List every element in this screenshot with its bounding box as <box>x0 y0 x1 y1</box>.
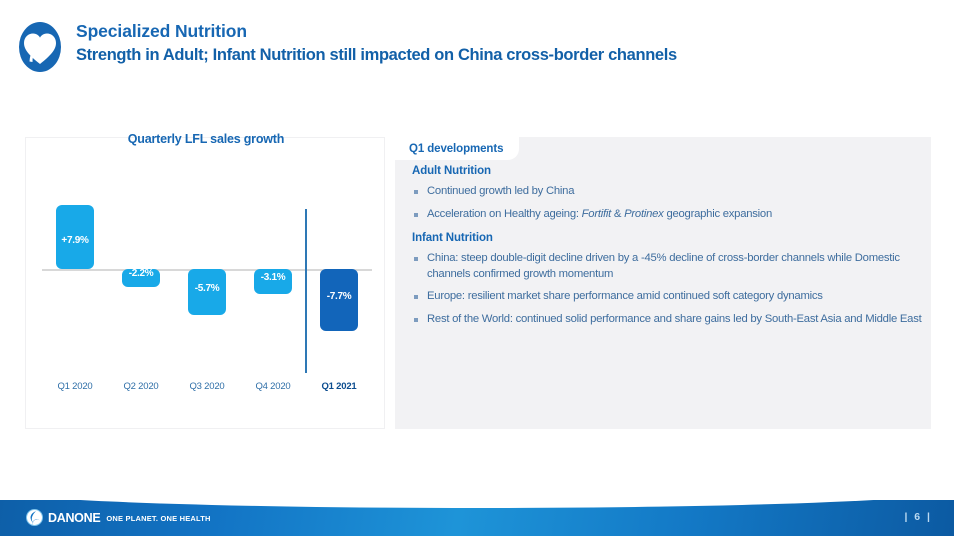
chart-bar: +7.9% <box>56 205 94 269</box>
developments-bullet: Acceleration on Healthy ageing: Fortifit… <box>412 207 922 223</box>
bullet-text: Acceleration on Healthy ageing: <box>427 208 582 220</box>
page-number: | 6 | <box>904 511 932 523</box>
chart-card: Quarterly LFL sales growth +7.9%Q1 2020-… <box>25 137 385 429</box>
bullet-square-icon <box>414 257 418 261</box>
chart-bar-value-label: -2.2% <box>129 268 154 279</box>
chart-bar-value-label: +7.9% <box>61 235 88 246</box>
bullet-brand-name: Protinex <box>624 208 663 220</box>
bullet-square-icon <box>414 295 418 299</box>
bar-chart-plot: +7.9%Q1 2020-2.2%Q2 2020-5.7%Q3 2020-3.1… <box>26 138 386 430</box>
chart-bar: -7.7% <box>320 269 358 331</box>
chart-bar-value-label: -3.1% <box>261 272 286 283</box>
page-subtitle: Strength in Adult; Infant Nutrition stil… <box>76 44 936 67</box>
bullet-text: & <box>611 208 624 220</box>
header-text-block: Specialized Nutrition Strength in Adult;… <box>76 20 936 67</box>
bullet-brand-name: Fortifit <box>582 208 611 220</box>
developments-section-title: Adult Nutrition <box>412 165 922 177</box>
chart-bar: -2.2% <box>122 269 160 287</box>
developments-bullet: China: steep double-digit decline driven… <box>412 251 922 282</box>
developments-tab: Q1 developments <box>395 137 519 160</box>
footer-wave-decoration <box>0 500 954 508</box>
danone-logo: DANONE ONE PLANET. ONE HEALTH <box>26 509 211 526</box>
developments-section: Adult NutritionContinued growth led by C… <box>412 165 922 222</box>
developments-bullet: Europe: resilient market share performan… <box>412 289 922 305</box>
developments-body: Adult NutritionContinued growth led by C… <box>412 165 922 334</box>
bullet-text: Europe: resilient market share performan… <box>427 290 823 302</box>
page-title: Specialized Nutrition <box>76 20 936 42</box>
developments-section-title: Infant Nutrition <box>412 232 922 244</box>
danone-logo-text: DANONE <box>48 511 100 525</box>
chart-bar: -3.1% <box>254 269 292 294</box>
chart-bar-value-label: -7.7% <box>327 291 352 302</box>
bullet-square-icon <box>414 318 418 322</box>
developments-bullet: Rest of the World: continued solid perfo… <box>412 312 922 328</box>
danone-globe-icon <box>26 509 43 526</box>
chart-bar-value-label: -5.7% <box>195 283 220 294</box>
heart-leaf-icon <box>18 21 62 73</box>
slide-header: Specialized Nutrition Strength in Adult;… <box>0 0 954 92</box>
chart-x-axis-label: Q3 2020 <box>174 381 240 392</box>
chart-period-divider <box>305 209 307 373</box>
chart-x-axis-label: Q4 2020 <box>240 381 306 392</box>
bullet-text: China: steep double-digit decline driven… <box>427 252 900 280</box>
developments-tab-label: Q1 developments <box>409 143 503 155</box>
chart-x-axis-label: Q1 2020 <box>42 381 108 392</box>
developments-section: Infant NutritionChina: steep double-digi… <box>412 232 922 327</box>
bullet-square-icon <box>414 190 418 194</box>
developments-bullet: Continued growth led by China <box>412 184 922 200</box>
chart-x-axis-label: Q1 2021 <box>306 381 372 392</box>
bullet-text: geographic expansion <box>664 208 772 220</box>
slide-footer: DANONE ONE PLANET. ONE HEALTH | 6 | <box>0 500 954 536</box>
developments-panel: Q1 developments Adult NutritionContinued… <box>395 137 931 429</box>
bullet-square-icon <box>414 213 418 217</box>
bullet-text: Continued growth led by China <box>427 185 574 197</box>
chart-bar: -5.7% <box>188 269 226 315</box>
chart-x-axis-label: Q2 2020 <box>108 381 174 392</box>
bullet-text: Rest of the World: continued solid perfo… <box>427 313 922 325</box>
danone-tagline: ONE PLANET. ONE HEALTH <box>106 514 210 523</box>
